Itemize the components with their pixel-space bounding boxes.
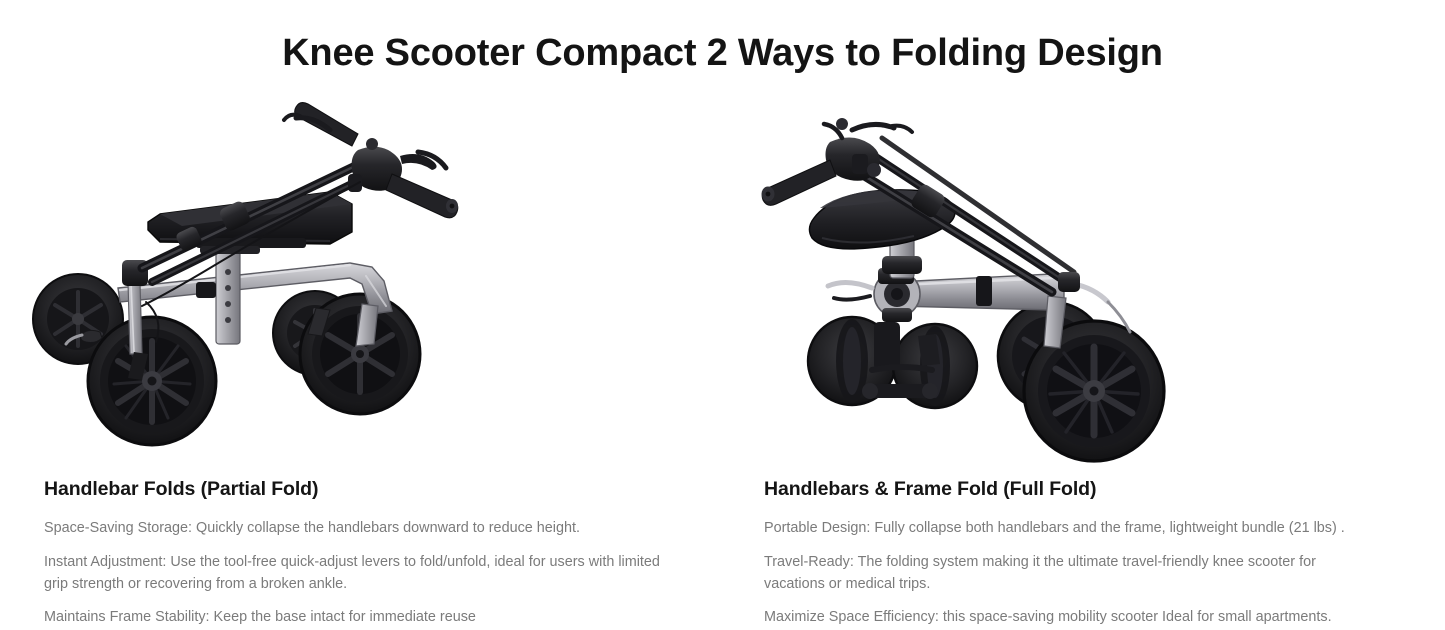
knee-scooter-full-fold-image [722,96,1444,468]
feature-columns: Handlebar Folds (Partial Fold) Space-Sav… [0,96,1445,629]
feature-bullet: Maximize Space Efficiency: this space-sa… [764,606,1376,628]
scooter-drawing-full [762,118,1165,461]
feature-bullet: Maintains Frame Stability: Keep the base… [44,606,674,628]
scooter-drawing-partial [33,103,458,445]
feature-text-partial-fold: Handlebar Folds (Partial Fold) Space-Sav… [0,468,722,629]
feature-bullet: Portable Design: Fully collapse both han… [764,517,1376,539]
knee-scooter-partial-fold-image [0,96,722,468]
feature-bullet: Instant Adjustment: Use the tool-free qu… [44,551,674,596]
feature-column-partial-fold: Handlebar Folds (Partial Fold) Space-Sav… [0,96,722,629]
section-heading-partial-fold: Handlebar Folds (Partial Fold) [44,478,698,501]
feature-text-full-fold: Handlebars & Frame Fold (Full Fold) Port… [722,468,1445,629]
frame-strap [976,276,992,306]
frame-strap [196,282,216,298]
page-title: Knee Scooter Compact 2 Ways to Folding D… [0,32,1445,75]
section-heading-full-fold: Handlebars & Frame Fold (Full Fold) [764,478,1417,501]
product-feature-page: Knee Scooter Compact 2 Ways to Folding D… [0,0,1445,630]
feature-bullet: Travel-Ready: The folding system making … [764,551,1376,596]
feature-bullet: Space-Saving Storage: Quickly collapse t… [44,517,674,539]
wheel-front-near [88,317,216,445]
feature-column-full-fold: Handlebars & Frame Fold (Full Fold) Port… [722,96,1445,629]
